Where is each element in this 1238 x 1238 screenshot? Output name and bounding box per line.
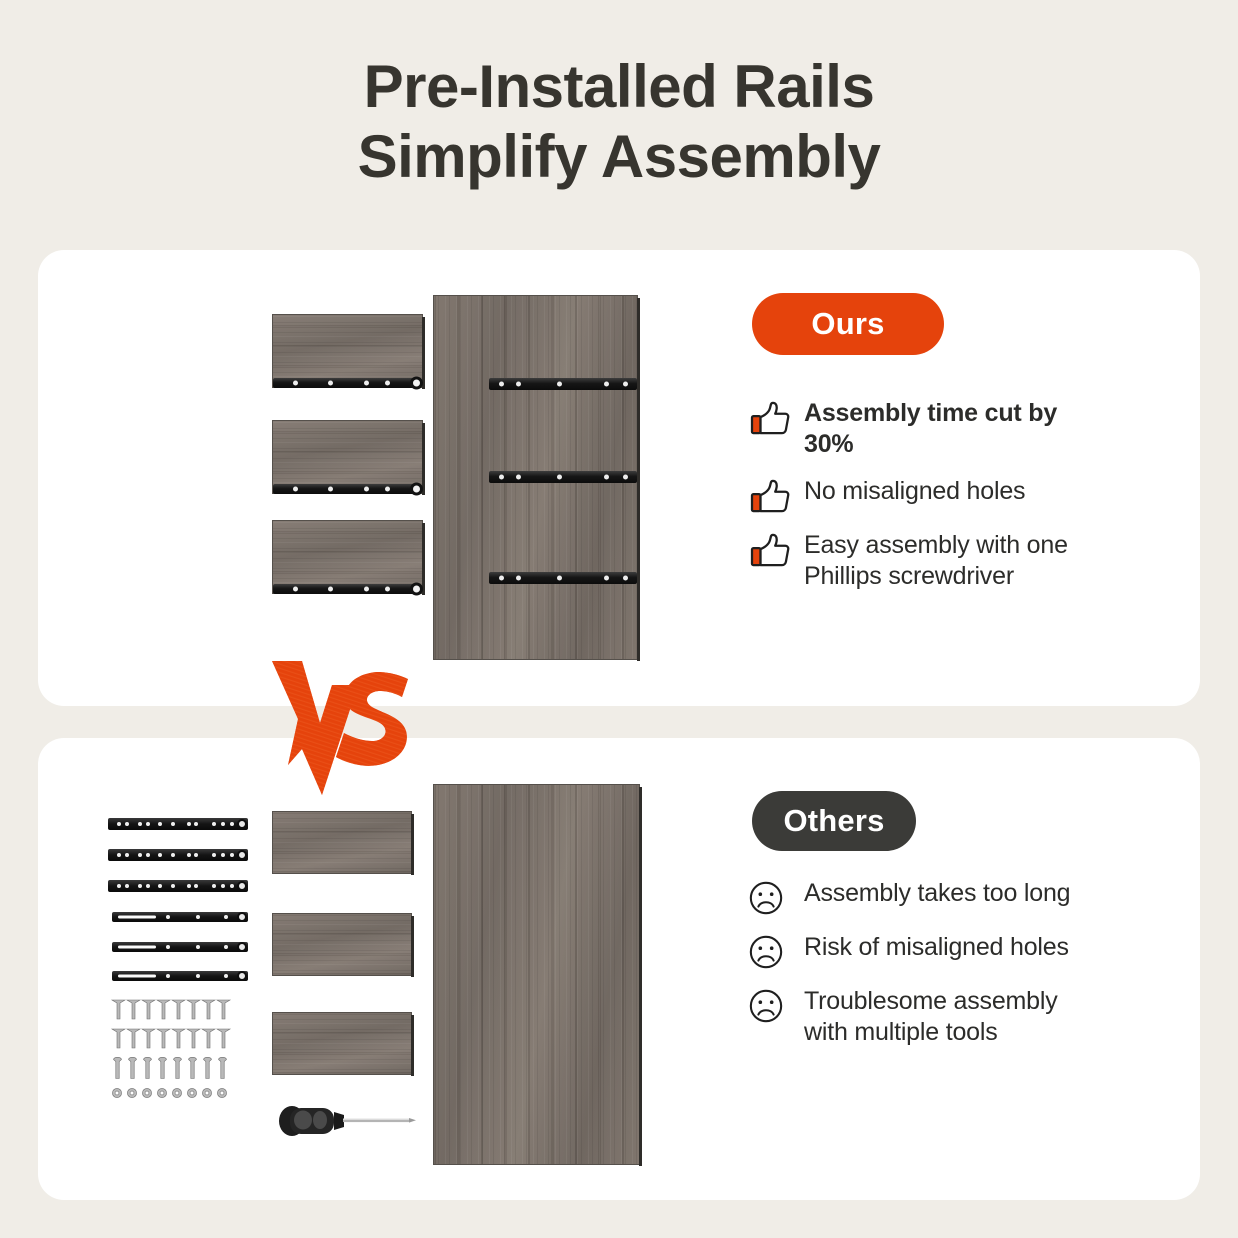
thumbs-up-icon xyxy=(748,478,792,514)
list-item-label: Easy assembly with one Phillips screwdri… xyxy=(804,530,1078,592)
list-item-label: Assembly time cut by 30% xyxy=(804,398,1078,460)
sad-face-icon xyxy=(748,988,792,1024)
thumbs-up-icon xyxy=(748,532,792,568)
list-item: No misaligned holes xyxy=(748,476,1078,514)
list-item: Assembly time cut by 30% xyxy=(748,398,1078,460)
ours-badge: Ours xyxy=(752,293,944,355)
list-item: Assembly takes too long xyxy=(748,878,1078,916)
list-item-label: Troublesome assembly with multiple tools xyxy=(804,986,1078,1048)
list-item-label: No misaligned holes xyxy=(804,476,1025,507)
list-item: Troublesome assembly with multiple tools xyxy=(748,986,1078,1048)
others-badge: Others xyxy=(752,791,916,851)
thumbs-up-icon xyxy=(748,400,792,436)
list-item: Risk of misaligned holes xyxy=(748,932,1078,970)
page-title-line-1: Pre-Installed Rails xyxy=(0,52,1238,122)
page-title: Pre-Installed Rails Simplify Assembly xyxy=(0,52,1238,192)
others-badge-label: Others xyxy=(783,803,884,839)
sad-face-icon xyxy=(748,880,792,916)
vs-graphic: VS xyxy=(258,645,423,805)
list-item: Easy assembly with one Phillips screwdri… xyxy=(748,530,1078,592)
list-item-label: Assembly takes too long xyxy=(804,878,1070,909)
others-feature-list: Assembly takes too long Risk of misalign… xyxy=(748,878,1078,1064)
ours-badge-label: Ours xyxy=(811,306,884,342)
list-item-label: Risk of misaligned holes xyxy=(804,932,1069,963)
page-title-line-2: Simplify Assembly xyxy=(0,122,1238,192)
sad-face-icon xyxy=(748,934,792,970)
ours-feature-list: Assembly time cut by 30% No misaligned h… xyxy=(748,398,1078,608)
